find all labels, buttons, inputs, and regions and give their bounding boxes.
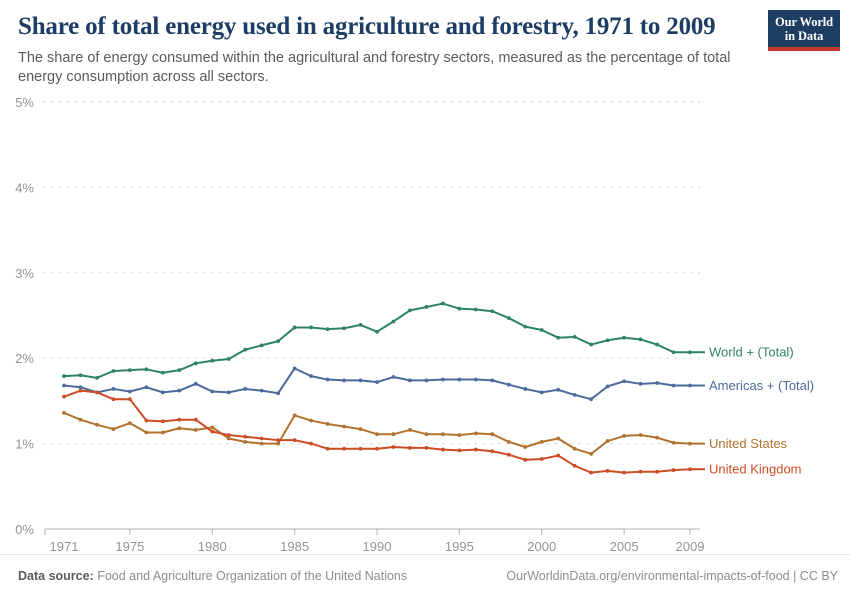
series-line[interactable] bbox=[64, 304, 690, 378]
data-point[interactable] bbox=[556, 454, 560, 458]
data-point[interactable] bbox=[474, 448, 478, 452]
chart-header: Share of total energy used in agricultur… bbox=[18, 12, 758, 87]
data-point[interactable] bbox=[227, 433, 231, 437]
data-source-value: Food and Agriculture Organization of the… bbox=[97, 569, 407, 583]
data-point[interactable] bbox=[276, 339, 280, 343]
data-point[interactable] bbox=[342, 379, 346, 383]
data-point[interactable] bbox=[589, 343, 593, 347]
data-point[interactable] bbox=[128, 390, 132, 394]
data-point[interactable] bbox=[589, 471, 593, 475]
data-point[interactable] bbox=[326, 447, 330, 451]
x-axis-tick-label: 2005 bbox=[610, 539, 639, 553]
data-point[interactable] bbox=[95, 376, 99, 380]
data-point[interactable] bbox=[177, 389, 181, 393]
data-point[interactable] bbox=[161, 390, 165, 394]
data-point[interactable] bbox=[309, 374, 313, 378]
data-point[interactable] bbox=[606, 338, 610, 342]
series-legend-label[interactable]: United States bbox=[709, 436, 788, 451]
data-point[interactable] bbox=[112, 397, 116, 401]
data-point[interactable] bbox=[144, 431, 148, 435]
data-point[interactable] bbox=[243, 435, 247, 439]
data-point[interactable] bbox=[425, 305, 429, 309]
logo-line-1: Our World bbox=[772, 15, 836, 29]
data-point[interactable] bbox=[342, 425, 346, 429]
chart-page: Share of total energy used in agricultur… bbox=[0, 0, 850, 600]
data-point[interactable] bbox=[309, 419, 313, 423]
series-legend-label[interactable]: United Kingdom bbox=[709, 462, 802, 477]
data-point[interactable] bbox=[112, 427, 116, 431]
data-point[interactable] bbox=[655, 343, 659, 347]
data-point[interactable] bbox=[672, 468, 676, 472]
data-point[interactable] bbox=[639, 382, 643, 386]
data-point[interactable] bbox=[457, 433, 461, 437]
data-point[interactable] bbox=[144, 385, 148, 389]
chart-subtitle: The share of energy consumed within the … bbox=[18, 49, 748, 87]
data-point[interactable] bbox=[556, 336, 560, 340]
data-point[interactable] bbox=[128, 368, 132, 372]
data-point[interactable] bbox=[243, 440, 247, 444]
data-point[interactable] bbox=[523, 445, 527, 449]
data-point[interactable] bbox=[507, 383, 511, 387]
data-point[interactable] bbox=[375, 380, 379, 384]
y-axis-tick-label: 4% bbox=[15, 180, 34, 195]
data-point[interactable] bbox=[293, 367, 297, 371]
data-point[interactable] bbox=[243, 387, 247, 391]
x-axis-tick-label: 1971 bbox=[50, 539, 79, 553]
data-point[interactable] bbox=[540, 440, 544, 444]
data-point[interactable] bbox=[62, 384, 66, 388]
data-point[interactable] bbox=[342, 326, 346, 330]
data-point[interactable] bbox=[622, 434, 626, 438]
data-point[interactable] bbox=[62, 395, 66, 399]
data-point[interactable] bbox=[359, 379, 363, 383]
data-point[interactable] bbox=[523, 387, 527, 391]
data-point[interactable] bbox=[79, 373, 83, 377]
data-point[interactable] bbox=[276, 442, 280, 446]
data-point[interactable] bbox=[243, 348, 247, 352]
data-point[interactable] bbox=[425, 432, 429, 436]
data-point[interactable] bbox=[408, 428, 412, 432]
data-point[interactable] bbox=[144, 419, 148, 423]
attribution-link[interactable]: OurWorldinData.org/environmental-impacts… bbox=[506, 569, 838, 583]
data-point[interactable] bbox=[589, 397, 593, 401]
data-point[interactable] bbox=[408, 446, 412, 450]
x-axis-tick-label: 1995 bbox=[445, 539, 474, 553]
data-point[interactable] bbox=[474, 378, 478, 382]
data-point[interactable] bbox=[359, 427, 363, 431]
data-point[interactable] bbox=[79, 418, 83, 422]
data-point[interactable] bbox=[556, 437, 560, 441]
data-point[interactable] bbox=[194, 361, 198, 365]
data-point[interactable] bbox=[276, 391, 280, 395]
data-point[interactable] bbox=[392, 375, 396, 379]
data-source: Data source: Food and Agriculture Organi… bbox=[18, 569, 407, 583]
data-point[interactable] bbox=[408, 379, 412, 383]
data-point[interactable] bbox=[672, 384, 676, 388]
data-point[interactable] bbox=[95, 423, 99, 427]
data-point[interactable] bbox=[655, 381, 659, 385]
data-point[interactable] bbox=[474, 431, 478, 435]
data-point[interactable] bbox=[293, 414, 297, 418]
data-point[interactable] bbox=[177, 418, 181, 422]
data-point[interactable] bbox=[573, 393, 577, 397]
y-axis-tick-label: 3% bbox=[15, 266, 34, 281]
data-point[interactable] bbox=[441, 432, 445, 436]
data-point[interactable] bbox=[326, 422, 330, 426]
line-chart-svg[interactable]: 0%1%2%3%4%5%1971197519801985199019952000… bbox=[0, 88, 850, 553]
data-point[interactable] bbox=[62, 374, 66, 378]
data-point[interactable] bbox=[523, 325, 527, 329]
data-point[interactable] bbox=[112, 387, 116, 391]
data-point[interactable] bbox=[655, 436, 659, 440]
data-point[interactable] bbox=[210, 430, 214, 434]
data-point[interactable] bbox=[375, 447, 379, 451]
data-point[interactable] bbox=[95, 390, 99, 394]
data-point[interactable] bbox=[573, 464, 577, 468]
series-legend-label[interactable]: World + (Total) bbox=[709, 345, 794, 360]
data-point[interactable] bbox=[112, 369, 116, 373]
data-point[interactable] bbox=[62, 411, 66, 415]
data-point[interactable] bbox=[540, 390, 544, 394]
data-point[interactable] bbox=[639, 433, 643, 437]
data-point[interactable] bbox=[556, 388, 560, 392]
data-point[interactable] bbox=[79, 389, 83, 393]
x-axis-tick-label: 1985 bbox=[280, 539, 309, 553]
y-axis-tick-label: 0% bbox=[15, 522, 34, 537]
logo-line-2: in Data bbox=[772, 29, 836, 43]
data-point[interactable] bbox=[392, 320, 396, 324]
data-point[interactable] bbox=[260, 437, 264, 441]
data-source-label: Data source: bbox=[18, 569, 94, 583]
data-point[interactable] bbox=[177, 368, 181, 372]
data-point[interactable] bbox=[260, 389, 264, 393]
data-point[interactable] bbox=[227, 437, 231, 441]
data-point[interactable] bbox=[457, 449, 461, 453]
data-point[interactable] bbox=[210, 390, 214, 394]
data-point[interactable] bbox=[392, 432, 396, 436]
data-point[interactable] bbox=[639, 338, 643, 342]
page-title: Share of total energy used in agricultur… bbox=[18, 12, 758, 42]
data-point[interactable] bbox=[540, 328, 544, 332]
data-point[interactable] bbox=[490, 449, 494, 453]
data-point[interactable] bbox=[655, 470, 659, 474]
data-point[interactable] bbox=[441, 448, 445, 452]
data-point[interactable] bbox=[441, 302, 445, 306]
data-point[interactable] bbox=[128, 421, 132, 425]
data-point[interactable] bbox=[210, 425, 214, 429]
data-point[interactable] bbox=[507, 440, 511, 444]
chart-footer: Data source: Food and Agriculture Organi… bbox=[0, 554, 850, 600]
data-point[interactable] bbox=[622, 379, 626, 383]
data-point[interactable] bbox=[210, 359, 214, 363]
data-point[interactable] bbox=[490, 432, 494, 436]
data-point[interactable] bbox=[490, 309, 494, 313]
data-point[interactable] bbox=[523, 458, 527, 462]
data-point[interactable] bbox=[359, 447, 363, 451]
data-point[interactable] bbox=[309, 326, 313, 330]
data-point[interactable] bbox=[392, 445, 396, 449]
data-point[interactable] bbox=[441, 378, 445, 382]
data-point[interactable] bbox=[293, 438, 297, 442]
data-point[interactable] bbox=[194, 428, 198, 432]
data-point[interactable] bbox=[540, 457, 544, 461]
data-point[interactable] bbox=[573, 335, 577, 339]
series-legend-label[interactable]: Americas + (Total) bbox=[709, 378, 814, 393]
data-point[interactable] bbox=[457, 378, 461, 382]
data-point[interactable] bbox=[194, 418, 198, 422]
data-point[interactable] bbox=[573, 447, 577, 451]
data-point[interactable] bbox=[507, 316, 511, 320]
x-axis-tick-label: 2000 bbox=[527, 539, 556, 553]
data-point[interactable] bbox=[457, 307, 461, 311]
data-point[interactable] bbox=[161, 419, 165, 423]
x-axis-tick-label: 1975 bbox=[115, 539, 144, 553]
data-point[interactable] bbox=[293, 326, 297, 330]
data-point[interactable] bbox=[425, 446, 429, 450]
y-axis-tick-label: 1% bbox=[15, 437, 34, 452]
data-point[interactable] bbox=[194, 382, 198, 386]
data-point[interactable] bbox=[425, 379, 429, 383]
data-point[interactable] bbox=[177, 426, 181, 430]
data-point[interactable] bbox=[375, 432, 379, 436]
data-point[interactable] bbox=[474, 308, 478, 312]
our-world-in-data-logo[interactable]: Our World in Data bbox=[768, 10, 840, 51]
data-point[interactable] bbox=[79, 385, 83, 389]
data-point[interactable] bbox=[672, 441, 676, 445]
data-point[interactable] bbox=[227, 357, 231, 361]
data-point[interactable] bbox=[606, 384, 610, 388]
data-point[interactable] bbox=[161, 431, 165, 435]
y-axis-tick-label: 5% bbox=[15, 95, 34, 110]
data-point[interactable] bbox=[639, 470, 643, 474]
x-axis-tick-label: 1990 bbox=[363, 539, 392, 553]
data-point[interactable] bbox=[507, 453, 511, 457]
chart-plot-area: 0%1%2%3%4%5%1971197519801985199019952000… bbox=[0, 88, 850, 553]
data-point[interactable] bbox=[227, 390, 231, 394]
data-point[interactable] bbox=[161, 371, 165, 375]
data-point[interactable] bbox=[309, 442, 313, 446]
x-axis-tick-label: 1980 bbox=[198, 539, 227, 553]
x-axis-tick-label: 2009 bbox=[676, 539, 705, 553]
data-point[interactable] bbox=[128, 397, 132, 401]
data-point[interactable] bbox=[359, 323, 363, 327]
data-point[interactable] bbox=[606, 439, 610, 443]
data-point[interactable] bbox=[276, 438, 280, 442]
data-point[interactable] bbox=[408, 308, 412, 312]
data-point[interactable] bbox=[326, 378, 330, 382]
data-point[interactable] bbox=[342, 447, 346, 451]
data-point[interactable] bbox=[622, 471, 626, 475]
data-point[interactable] bbox=[260, 442, 264, 446]
data-point[interactable] bbox=[606, 469, 610, 473]
data-point[interactable] bbox=[672, 350, 676, 354]
data-point[interactable] bbox=[589, 452, 593, 456]
data-point[interactable] bbox=[375, 330, 379, 334]
data-point[interactable] bbox=[326, 327, 330, 331]
data-point[interactable] bbox=[144, 367, 148, 371]
data-point[interactable] bbox=[490, 379, 494, 383]
data-point[interactable] bbox=[622, 336, 626, 340]
y-axis-tick-label: 2% bbox=[15, 351, 34, 366]
data-point[interactable] bbox=[260, 343, 264, 347]
